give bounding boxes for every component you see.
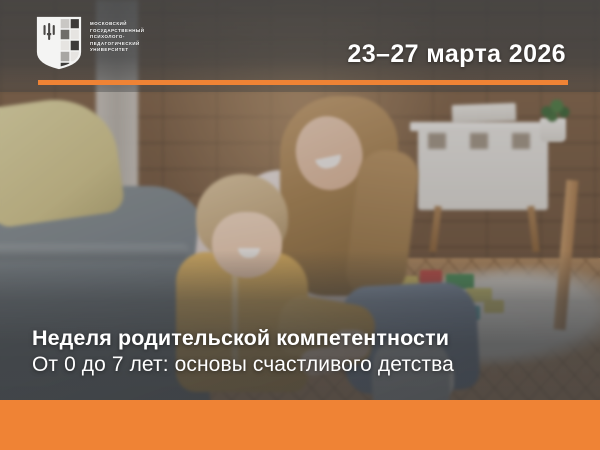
event-date-range: 23–27 марта 2026 <box>347 40 566 69</box>
event-banner: МОСКОВСКИЙ ГОСУДАРСТВЕННЫЙ ПСИХОЛОГО- ПЕ… <box>0 0 600 450</box>
banner-header: МОСКОВСКИЙ ГОСУДАРСТВЕННЫЙ ПСИХОЛОГО- ПЕ… <box>0 0 600 92</box>
shield-emblem-icon <box>36 16 82 70</box>
orange-divider-rule <box>38 80 568 85</box>
title-block: Неделя родительской компетентности От 0 … <box>32 325 572 378</box>
university-logo[interactable]: МОСКОВСКИЙ ГОСУДАРСТВЕННЫЙ ПСИХОЛОГО- ПЕ… <box>36 16 144 70</box>
event-title: Неделя родительской компетентности <box>32 325 572 351</box>
orange-footer-bar <box>0 400 600 450</box>
university-name: МОСКОВСКИЙ ГОСУДАРСТВЕННЫЙ ПСИХОЛОГО- ПЕ… <box>90 21 144 54</box>
event-subtitle: От 0 до 7 лет: основы счастливого детств… <box>32 351 572 378</box>
